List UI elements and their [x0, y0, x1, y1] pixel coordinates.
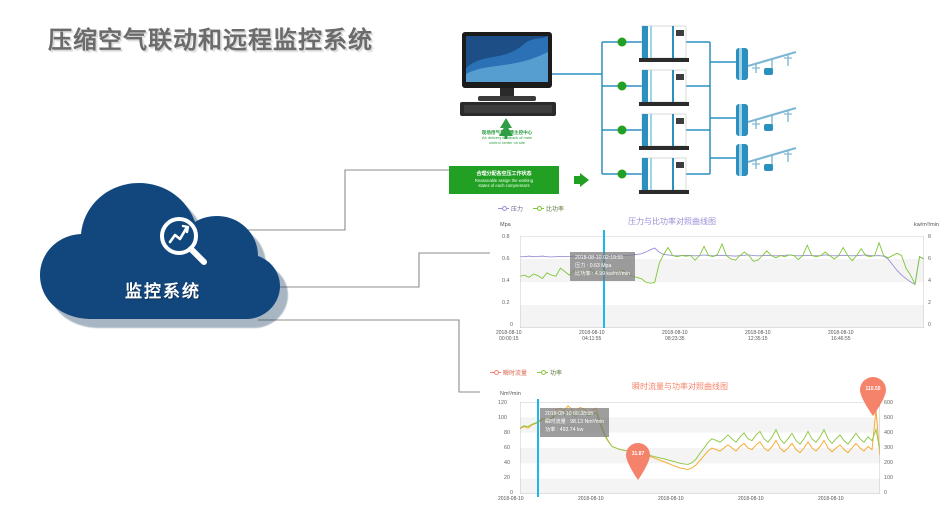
pressure-y2tick-3: 2 — [928, 300, 931, 306]
pressure-tooltip-line1: 压力 : 0.63 Mpa — [575, 263, 630, 271]
pressure-y2-axis-unit: kw/m³/min — [914, 222, 939, 228]
pressure-chart-legend[interactable]: 压力 比功率 — [498, 204, 564, 213]
flow-ytick-3: 60 — [504, 445, 510, 451]
pressure-xtick-4-date: 2018-08-10 — [828, 330, 854, 336]
legend-swatch-power — [537, 372, 548, 373]
pressure-ytick-2: 0.4 — [502, 278, 510, 284]
pressure-chart[interactable]: 压力 比功率 压力与比功率对照曲线图 Mpa kw/m³/min 0.8 0.6… — [490, 200, 945, 340]
air-tank-3 — [736, 144, 796, 176]
flow-max-marker-label: 110.55 — [858, 386, 888, 392]
node-badge-2 — [618, 82, 627, 91]
pressure-ytick-4: 0 — [510, 322, 513, 328]
legend-item-specific-power[interactable]: 比功率 — [533, 204, 564, 213]
legend-label-specific-power: 比功率 — [546, 204, 564, 213]
pressure-xtick-2: 2018-08-10 08:23:35 — [662, 330, 688, 343]
pressure-xtick-3-time: 12:35:15 — [748, 336, 767, 342]
flow-xtick-0: 2018-08-10 — [498, 496, 524, 502]
diagram-caption-en-2: control center on site — [439, 141, 575, 146]
flow-max-marker[interactable]: 110.55 — [858, 376, 888, 416]
pressure-xtick-4: 2018-08-10 16:46:55 — [828, 330, 854, 343]
legend-item-pressure[interactable]: 压力 — [498, 204, 523, 213]
pressure-xtick-2-date: 2018-08-10 — [662, 330, 688, 336]
pressure-xtick-0-date: 2018-08-10 — [496, 330, 522, 336]
legend-swatch-specific-power — [533, 208, 544, 209]
pressure-tooltip-time: 2018-08-10 02:19:55 — [575, 255, 630, 263]
flow-ytick-0: 120 — [498, 400, 507, 406]
flow-tooltip-line2: 功率 : 493.74 kw — [545, 427, 604, 435]
flow-xtick-3: 2018-08-10 — [738, 496, 764, 502]
chart-magnifier-icon — [153, 211, 215, 273]
compressor-3 — [639, 114, 689, 150]
flow-y2tick-6: 0 — [884, 490, 887, 496]
pressure-ytick-3: 0.2 — [502, 300, 510, 306]
pressure-y2tick-0: 8 — [928, 234, 931, 240]
flow-xtick-4: 2018-08-10 — [818, 496, 844, 502]
flow-min-marker-pin — [624, 442, 652, 480]
flow-tooltip: 2018-08-10 00:38:55 瞬时流量 : 98.13 Nm³/min… — [540, 408, 609, 437]
arrow-right-icon — [574, 173, 590, 187]
flow-chart[interactable]: 瞬时流量 功率 瞬时流量与功率对照曲线图 Nm³/min 120 100 80 … — [480, 363, 945, 529]
flow-ytick-1: 100 — [498, 415, 507, 421]
pressure-tooltip: 2018-08-10 02:19:55 压力 : 0.63 Mpa 比功率 : … — [570, 252, 635, 281]
legend-label-power: 功率 — [550, 368, 562, 377]
pressure-xtick-4-time: 16:46:55 — [831, 336, 850, 342]
flow-xtick-2: 2018-08-10 — [658, 496, 684, 502]
pressure-ytick-0: 0.8 — [502, 234, 510, 240]
pressure-y2tick-4: 0 — [928, 322, 931, 328]
node-badge-1 — [618, 38, 627, 47]
legend-label-flow: 瞬时流量 — [503, 368, 527, 377]
page-title: 压缩空气联动和远程监控系统 — [48, 20, 373, 55]
legend-item-power[interactable]: 功率 — [537, 368, 562, 377]
node-badge-4 — [618, 170, 627, 179]
air-tank-2 — [736, 104, 796, 136]
flow-min-marker[interactable]: 31.87 — [624, 442, 652, 480]
flow-min-marker-label: 31.87 — [624, 451, 652, 457]
flow-y-axis-unit: Nm³/min — [500, 391, 521, 397]
legend-label-pressure: 压力 — [511, 204, 523, 213]
flow-cursor-line[interactable] — [537, 399, 539, 497]
pressure-axis-frame — [520, 236, 924, 328]
assign-status-callout: 合理分配各空压工作状态 Reasonable assign the workin… — [449, 166, 559, 194]
flow-ytick-5: 20 — [504, 475, 510, 481]
cloud-label: 监控系统 — [38, 277, 288, 302]
pressure-xtick-0-time: 00:00:15 — [499, 336, 518, 342]
air-tank-1 — [736, 48, 796, 80]
pressure-xtick-1-time: 04:11:55 — [582, 336, 601, 342]
flow-y2tick-5: 100 — [884, 475, 893, 481]
flow-y2tick-3: 300 — [884, 445, 893, 451]
flow-tooltip-line1: 瞬时流量 : 98.13 Nm³/min — [545, 419, 604, 427]
legend-swatch-pressure — [498, 208, 509, 209]
flow-xtick-1: 2018-08-10 — [578, 496, 604, 502]
flow-max-marker-pin — [858, 376, 888, 416]
pressure-xtick-2-time: 08:23:35 — [665, 336, 684, 342]
pressure-tooltip-line2: 比功率 : 4.99 kw/m³/min — [575, 271, 630, 279]
monitor-icon — [460, 32, 556, 116]
pressure-xtick-0: 2018-08-10 00:00:15 — [496, 330, 522, 343]
flow-tooltip-time: 2018-08-10 00:38:55 — [545, 411, 604, 419]
flow-chart-title: 瞬时流量与功率对照曲线图 — [632, 381, 728, 392]
flow-ytick-2: 80 — [504, 430, 510, 436]
flow-chart-legend[interactable]: 瞬时流量 功率 — [490, 368, 562, 377]
pressure-y2tick-1: 6 — [928, 256, 931, 262]
flow-y2tick-2: 400 — [884, 430, 893, 436]
pressure-xtick-1: 2018-08-10 04:11:55 — [579, 330, 605, 343]
monitoring-cloud[interactable]: 监控系统 — [38, 183, 288, 329]
compressor-4 — [639, 158, 689, 194]
diagram-caption: 现场用气量反馈主控中心 Air delivery feedback of mai… — [439, 130, 575, 145]
pressure-xtick-3-date: 2018-08-10 — [745, 330, 771, 336]
node-badge-3 — [618, 126, 627, 135]
pressure-y2tick-2: 4 — [928, 278, 931, 284]
pressure-y-axis-unit: Mpa — [500, 222, 511, 228]
legend-swatch-flow — [490, 372, 501, 373]
compressor-1 — [639, 26, 689, 62]
pressure-xtick-1-date: 2018-08-10 — [579, 330, 605, 336]
compressor-2 — [639, 70, 689, 106]
pressure-ytick-1: 0.6 — [502, 256, 510, 262]
system-topology-diagram: 现场用气量反馈主控中心 Air delivery feedback of mai… — [434, 18, 945, 208]
legend-item-flow[interactable]: 瞬时流量 — [490, 368, 527, 377]
pressure-chart-title: 压力与比功率对照曲线图 — [628, 216, 716, 227]
pressure-xtick-3: 2018-08-10 12:35:15 — [745, 330, 771, 343]
flow-y2tick-4: 200 — [884, 460, 893, 466]
assign-status-en-2: states of each compressors — [478, 183, 529, 188]
flow-ytick-4: 40 — [504, 460, 510, 466]
